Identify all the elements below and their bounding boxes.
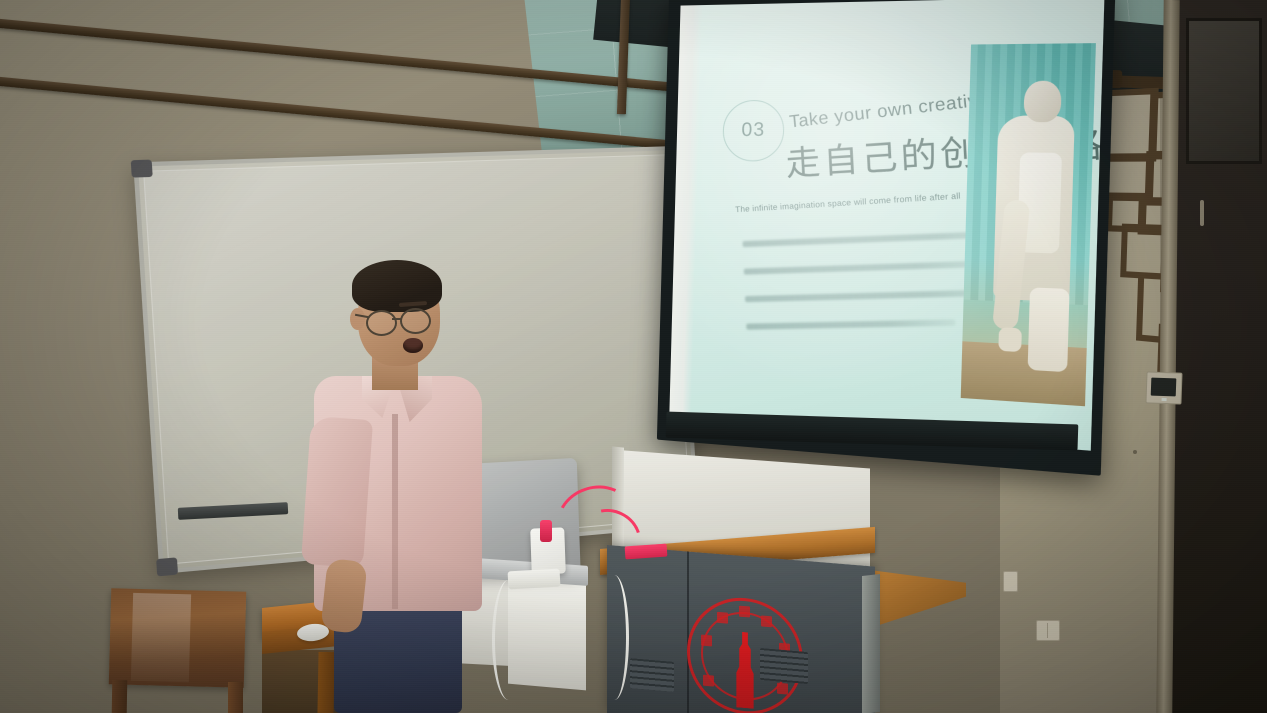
wall-mark: [1133, 450, 1137, 454]
presenter-shirt-placket: [392, 414, 398, 609]
chair-leg: [228, 682, 243, 713]
presenter-forearm: [320, 558, 367, 634]
projector-glow: [669, 0, 1104, 451]
door-window: [1186, 18, 1262, 164]
projection-screen-surface: 03 Take your own creative path 走自己的创艺之路 …: [669, 0, 1104, 451]
eyeglasses-bridge: [392, 318, 402, 320]
wall-outlet[interactable]: [1003, 571, 1018, 592]
control-panel-screen: [1151, 378, 1177, 397]
apple-logo-icon: [489, 504, 515, 535]
whiteboard-corner-cap: [156, 557, 178, 576]
control-panel-led: [1162, 398, 1167, 401]
chair-leg: [112, 680, 128, 713]
eyeglasses-icon: [366, 310, 397, 336]
presenter: [300, 268, 490, 713]
lecture-hall-photo: 03 Take your own creative path 走自己的创艺之路 …: [0, 0, 1267, 713]
eyeglasses-icon: [400, 308, 431, 334]
whiteboard-corner-cap: [131, 160, 153, 178]
podium-vent: [630, 658, 674, 692]
presenter-ear: [350, 308, 365, 330]
wall-control-panel[interactable]: [1145, 371, 1182, 404]
door-handle[interactable]: [1200, 200, 1204, 226]
wall-outlet[interactable]: [1036, 620, 1060, 641]
white-cable: [492, 580, 525, 700]
podium-side-panel: [862, 574, 880, 713]
presenter-hair: [352, 260, 442, 312]
podium-vent: [760, 648, 808, 684]
white-cable: [600, 575, 629, 700]
presenter-mouth: [403, 338, 423, 353]
projection-screen: 03 Take your own creative path 走自己的创艺之路 …: [657, 0, 1116, 476]
pink-connector: [540, 520, 552, 542]
presenter-sleeve: [301, 416, 373, 568]
wooden-chair: [109, 588, 246, 688]
